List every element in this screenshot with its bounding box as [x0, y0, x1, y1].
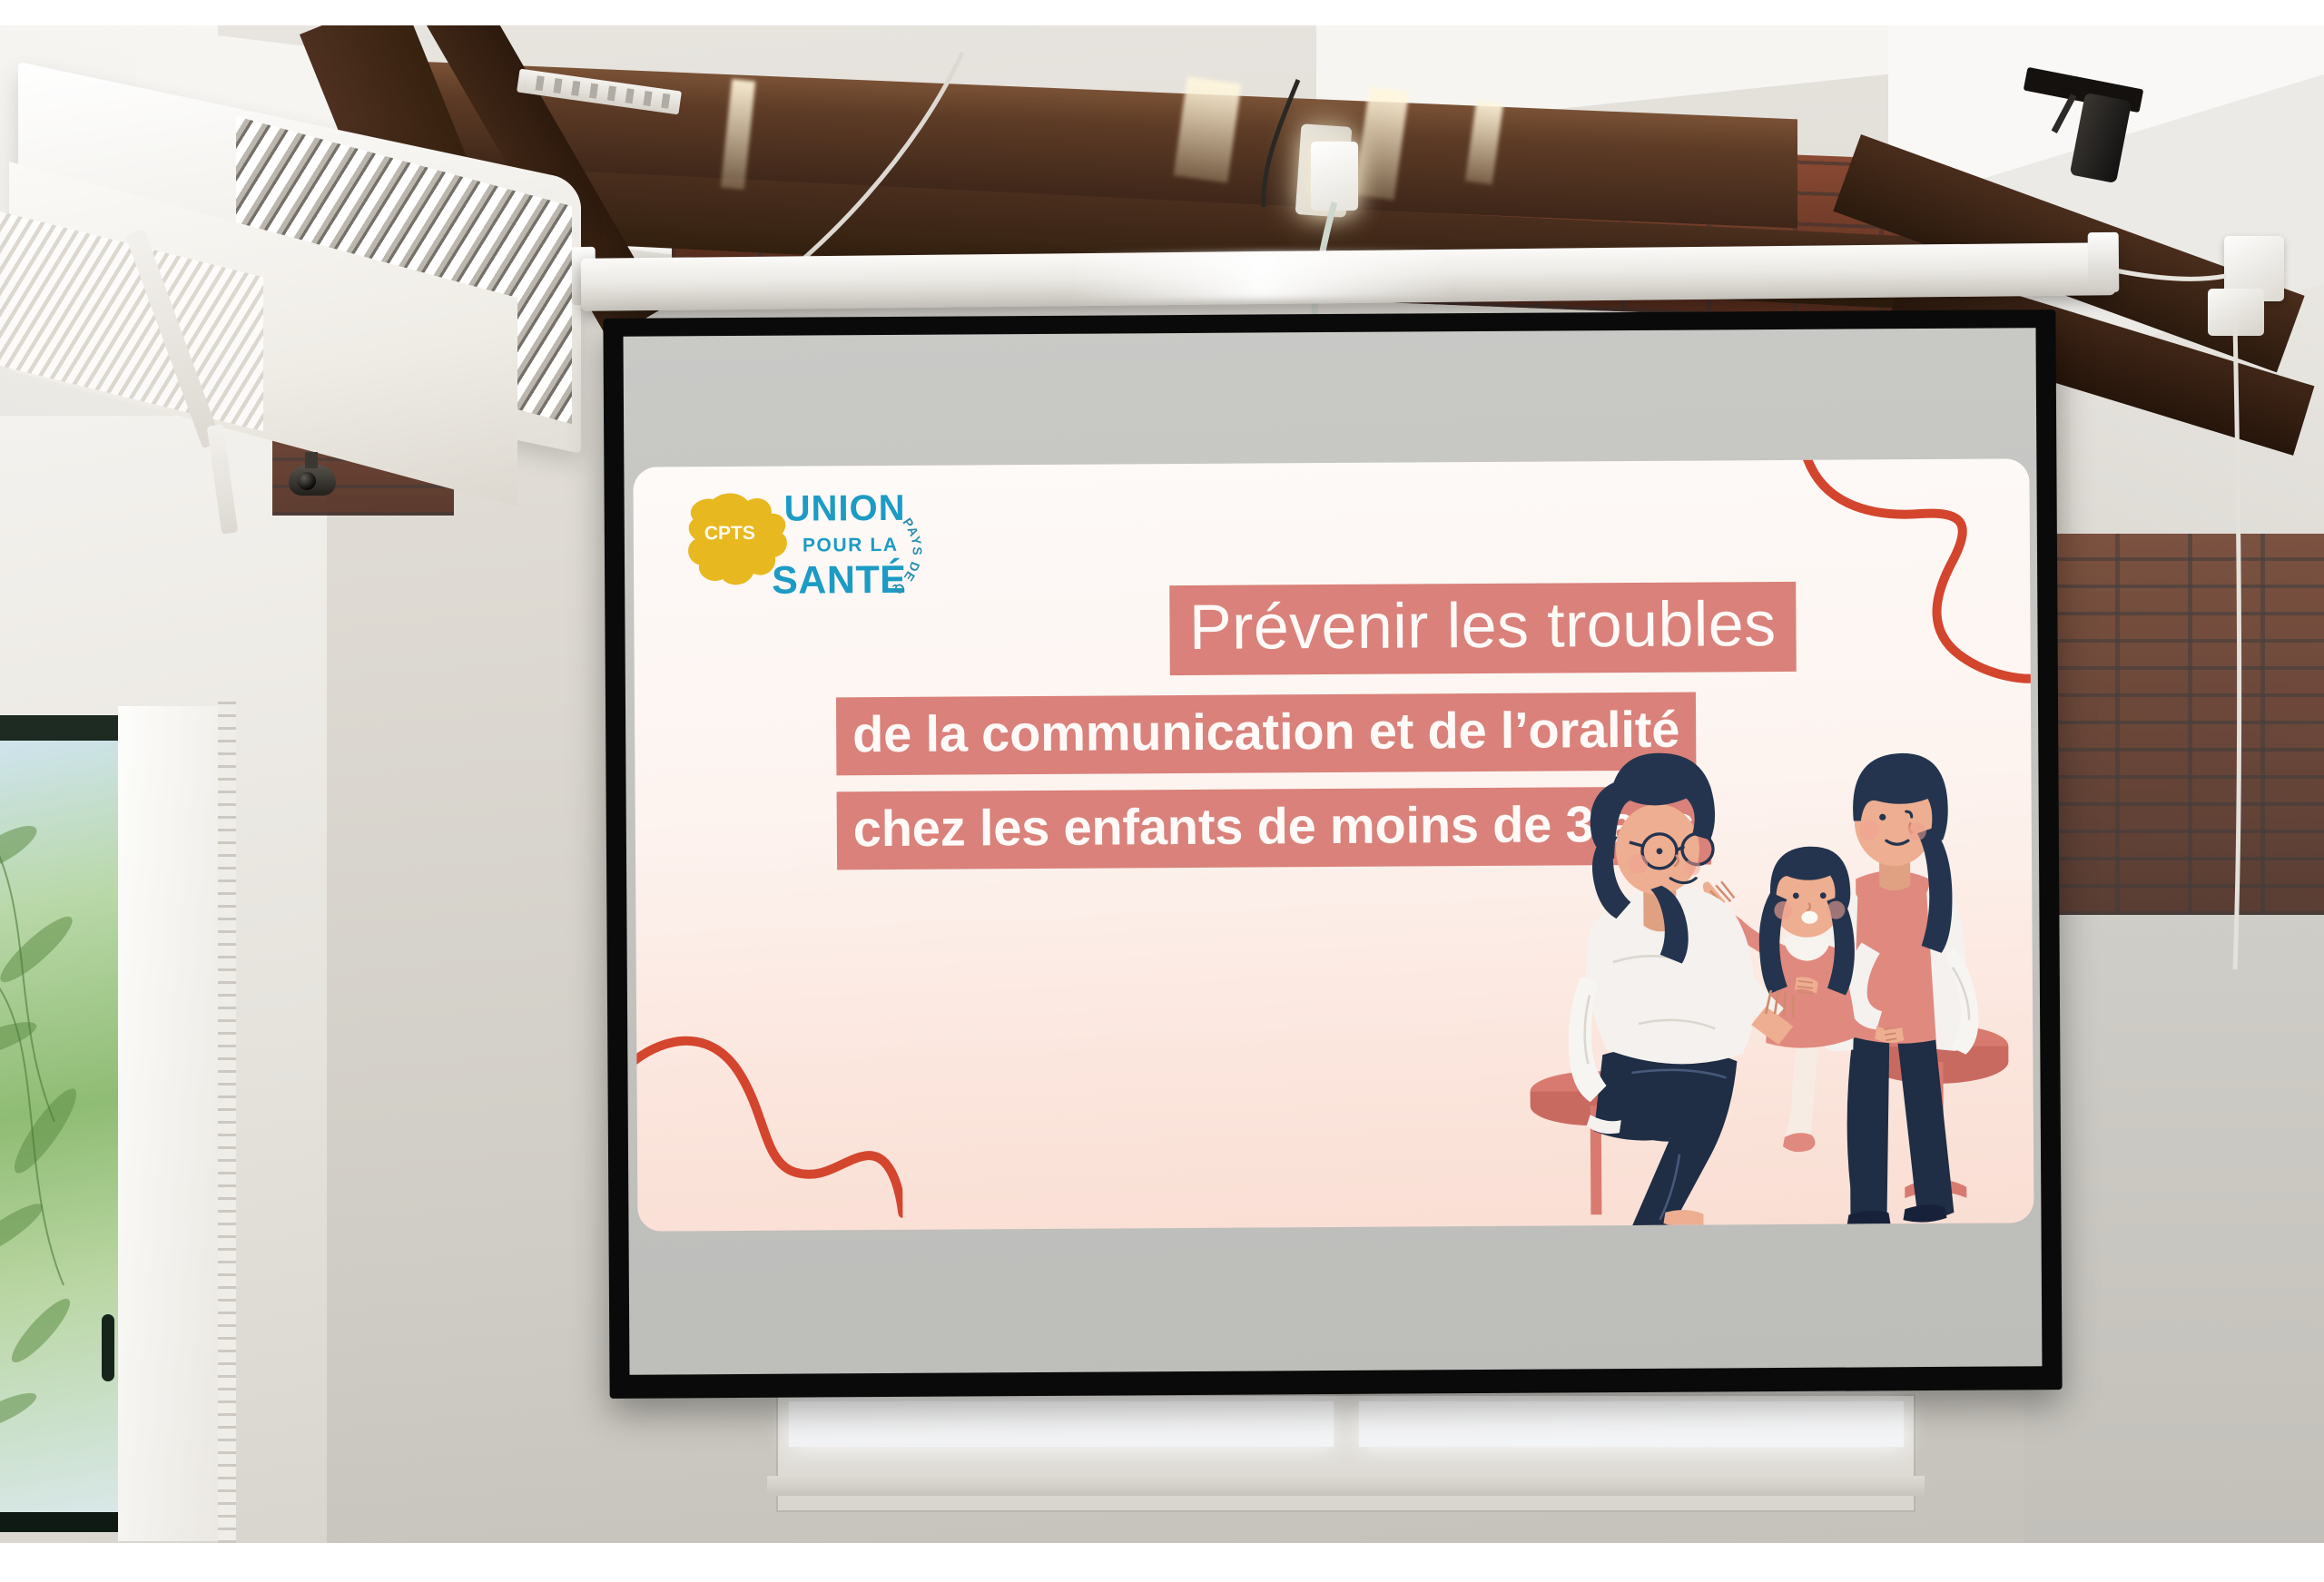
logo-line-pour-la: POUR LA	[803, 535, 899, 556]
camera-mount	[305, 452, 318, 468]
screen-surface: CPTS UNION POUR LA SANTÉ PAYS DE QUIMPER	[624, 328, 2043, 1374]
foliage-outside-window	[0, 741, 118, 1512]
screen-casing-highlight	[1071, 251, 1453, 301]
lower-window-pane-left	[789, 1401, 1334, 1447]
lower-window-pane-right	[1359, 1401, 1904, 1447]
lower-window-sill	[767, 1476, 1925, 1496]
left-window-glass	[0, 741, 118, 1512]
presentation-slide: CPTS UNION POUR LA SANTÉ PAYS DE QUIMPER	[633, 458, 2033, 1231]
frame-bottom-strip	[0, 1543, 2324, 1582]
title-row-1: Prévenir les troubles	[634, 582, 1797, 679]
wall-mounted-device-center	[1311, 142, 1358, 211]
lower-right-wall	[2024, 915, 2324, 1543]
screen-casing-cap-right	[2088, 232, 2120, 292]
logo-badge-text: CPTS	[704, 523, 755, 544]
squiggle-bottom-left-icon	[633, 1012, 902, 1232]
left-window-handle[interactable]	[102, 1314, 114, 1381]
room-photograph: CPTS UNION POUR LA SANTÉ PAYS DE QUIMPER	[0, 25, 2324, 1543]
camera-lens-icon	[298, 472, 316, 490]
doctor-high-fiving-child-illustration	[1522, 732, 2033, 1225]
frame-top-strip	[0, 0, 2324, 25]
left-window-rebate	[218, 702, 236, 1543]
projection-screen[interactable]: CPTS UNION POUR LA SANTÉ PAYS DE QUIMPER	[603, 310, 2062, 1399]
left-window-jamb	[118, 706, 225, 1541]
title-line-1: Prévenir les troubles	[1169, 582, 1797, 675]
security-camera	[289, 465, 336, 496]
photo-white-frame: CPTS UNION POUR LA SANTÉ PAYS DE QUIMPER	[0, 0, 2324, 1582]
wall-mounted-bracket-lower	[2208, 289, 2264, 336]
logo-line-union: UNION	[784, 488, 906, 529]
